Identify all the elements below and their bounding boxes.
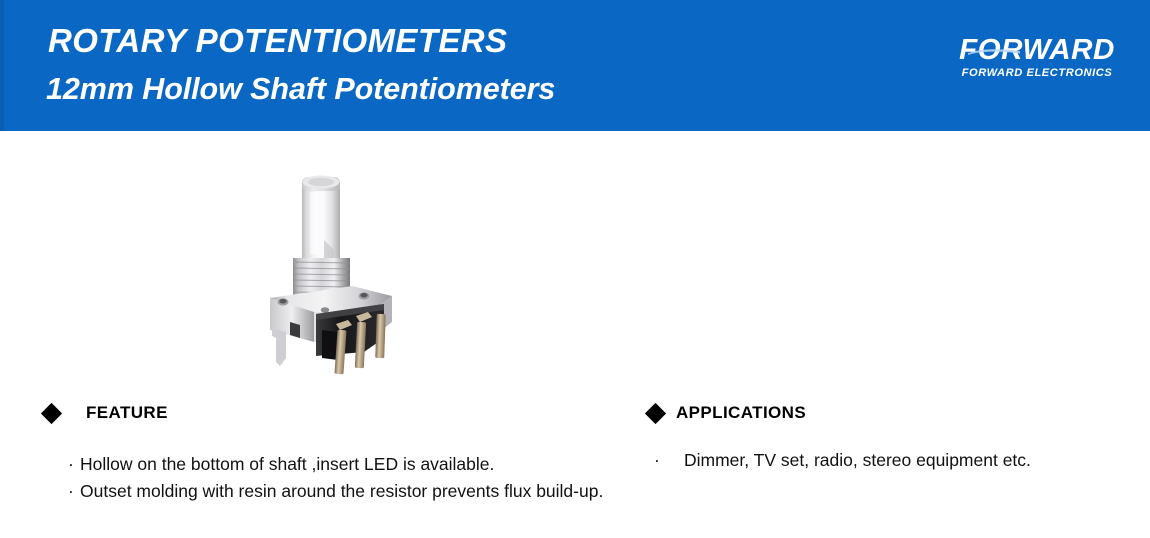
company-logo: FORWARD FORWARD ELECTRONICS — [952, 36, 1122, 79]
product-photo — [252, 162, 414, 380]
list-item: · Outset molding with resin around the r… — [68, 479, 614, 504]
page-header-banner: ROTARY POTENTIOMETERS 12mm Hollow Shaft … — [0, 0, 1150, 131]
logo-wordmark: FORWARD — [950, 36, 1123, 65]
applications-section: APPLICATIONS · Dimmer, TV set, radio, st… — [648, 402, 1118, 475]
applications-heading: APPLICATIONS — [676, 403, 806, 423]
list-item-text: Outset molding with resin around the res… — [80, 479, 614, 504]
feature-list: · Hollow on the bottom of shaft ,insert … — [68, 452, 614, 505]
feature-heading: FEATURE — [86, 403, 168, 423]
list-item: · Dimmer, TV set, radio, stereo equipmen… — [654, 448, 1118, 473]
list-item: · Hollow on the bottom of shaft ,insert … — [68, 452, 614, 477]
list-item-text: Dimmer, TV set, radio, stereo equipment … — [684, 448, 1118, 473]
page-title-secondary: 12mm Hollow Shaft Potentiometers — [46, 73, 555, 106]
bullet-dot-icon: · — [654, 448, 684, 473]
feature-section: FEATURE · Hollow on the bottom of shaft … — [44, 402, 614, 507]
header-left-edge-strip — [0, 0, 4, 131]
list-item-text: Hollow on the bottom of shaft ,insert LE… — [80, 452, 614, 477]
logo-subtitle: FORWARD ELECTRONICS — [953, 68, 1121, 79]
applications-list: · Dimmer, TV set, radio, stereo equipmen… — [654, 448, 1118, 473]
page-title-primary: ROTARY POTENTIOMETERS — [48, 24, 507, 59]
feature-heading-row: FEATURE — [44, 402, 614, 424]
diamond-icon — [41, 402, 62, 423]
bullet-dot-icon: · — [68, 452, 80, 477]
bullet-dot-icon: · — [68, 479, 80, 504]
applications-heading-row: APPLICATIONS — [648, 402, 1118, 424]
diamond-icon — [645, 402, 666, 423]
